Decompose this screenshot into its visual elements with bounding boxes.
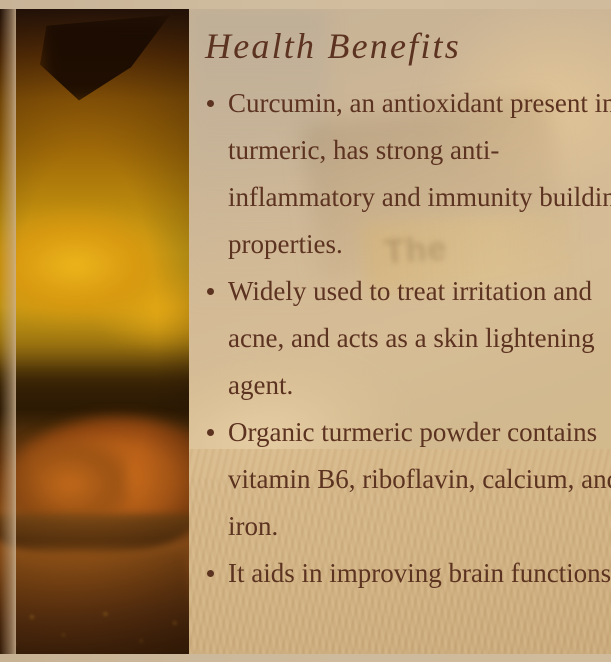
benefits-list: Curcumin, an antioxidant present in turm… (205, 80, 611, 597)
photo-right-feather-edge (0, 9, 16, 654)
list-item: Widely used to treat irritation and acne… (205, 268, 611, 409)
list-item-text: Curcumin, an antioxidant present in turm… (228, 88, 611, 259)
slide-content: Health Benefits Curcumin, an antioxidant… (189, 9, 611, 597)
bullet-icon (207, 100, 214, 107)
list-item-text: Organic turmeric powder contains vitamin… (228, 417, 611, 541)
page-title: Health Benefits (205, 28, 611, 64)
text-panel: The Health Benefits Curcumin, an antioxi… (189, 9, 611, 654)
photo-vignette (0, 9, 189, 654)
bullet-icon (207, 429, 214, 436)
bullet-icon (207, 570, 214, 577)
turmeric-photo (0, 9, 189, 654)
list-item: It aids in improving brain functions. (205, 550, 611, 597)
list-item: Organic turmeric powder contains vitamin… (205, 409, 611, 550)
list-item-text: It aids in improving brain functions. (228, 558, 611, 588)
bullet-icon (207, 288, 214, 295)
bottom-band (0, 654, 611, 662)
list-item-text: Widely used to treat irritation and acne… (228, 276, 595, 400)
slide: The Health Benefits Curcumin, an antioxi… (0, 0, 611, 662)
list-item: Curcumin, an antioxidant present in turm… (205, 80, 611, 268)
top-band (0, 0, 611, 9)
